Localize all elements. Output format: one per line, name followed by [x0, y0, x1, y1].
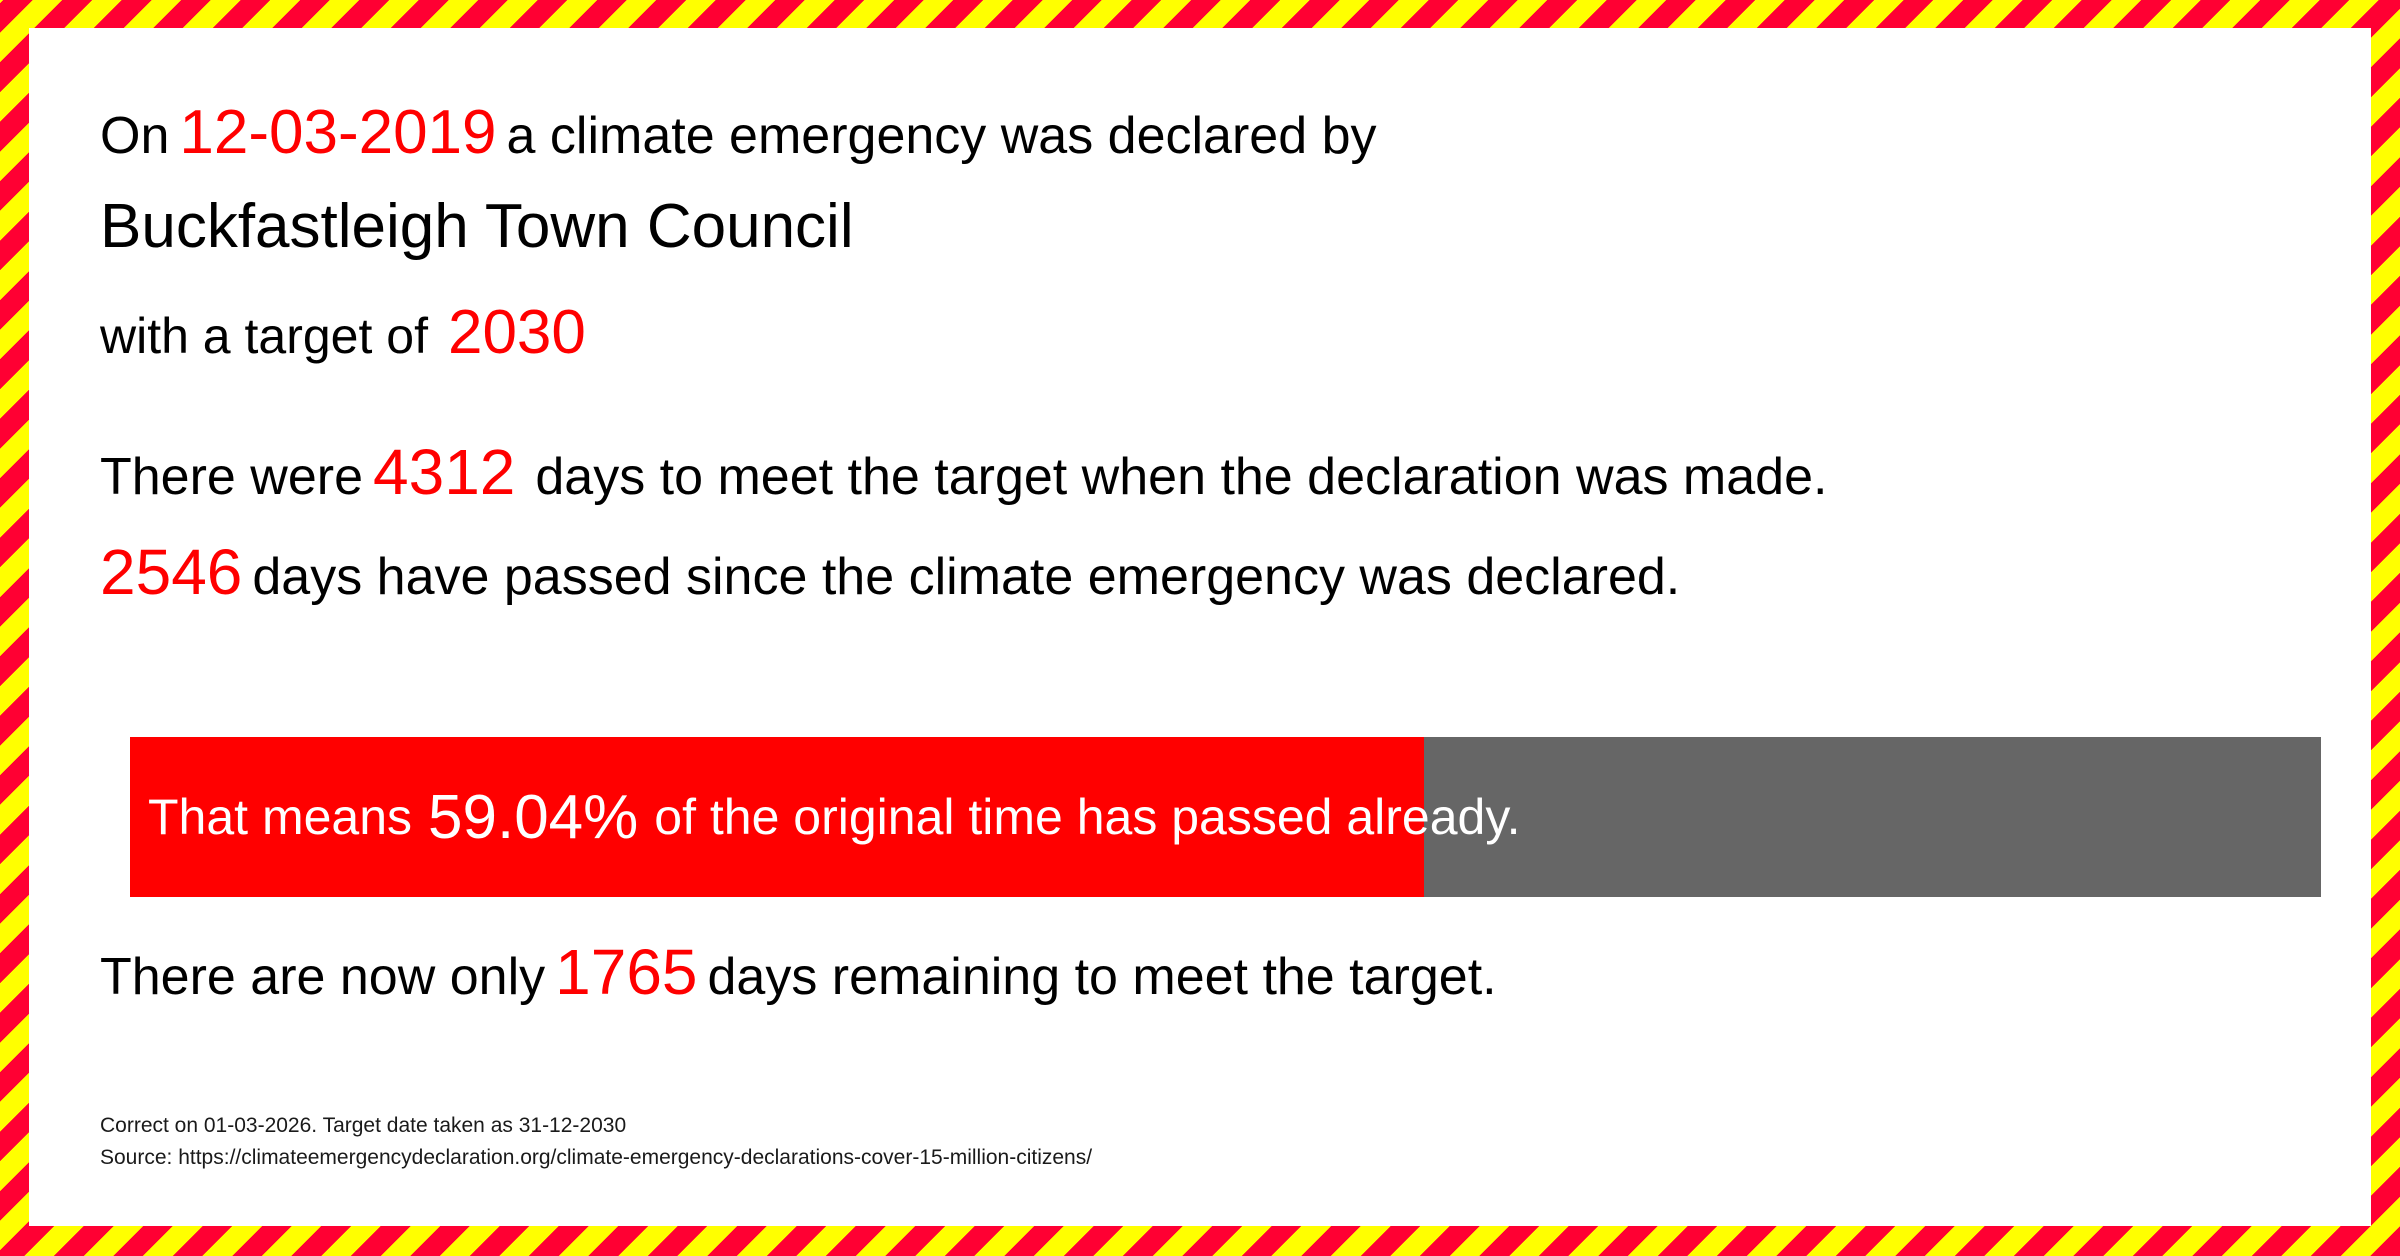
remaining-days-value: 1765 — [555, 936, 697, 1008]
footnote-correct-on: Correct on 01-03-2026. Target date taken… — [100, 1114, 626, 1138]
days-passed-value: 2546 — [100, 536, 242, 608]
hazard-stripe-frame: On12-03-2019a climate emergency was decl… — [0, 0, 2400, 1256]
council-name: Buckfastleigh Town Council — [100, 196, 854, 258]
footnote-source: Source: https://climateemergencydeclarat… — [100, 1146, 1092, 1170]
progress-prefix: That means — [148, 788, 412, 846]
original-days-line: There were4312days to meet the target wh… — [100, 440, 1827, 504]
original-prefix: There were — [100, 448, 363, 506]
declaration-line: On12-03-2019a climate emergency was decl… — [100, 102, 1377, 164]
progress-suffix: of the original time has passed already. — [654, 788, 1520, 846]
declaration-middle: a climate emergency was declared by — [507, 107, 1377, 165]
remaining-prefix: There are now only — [100, 948, 545, 1006]
remaining-suffix: days remaining to meet the target. — [708, 948, 1497, 1006]
progress-bar-label: That means59.04%of the original time has… — [148, 737, 1521, 897]
original-suffix: days to meet the target when the declara… — [535, 448, 1827, 506]
progress-percent: 59.04% — [422, 782, 644, 853]
card-content: On12-03-2019a climate emergency was decl… — [100, 66, 2321, 1186]
time-elapsed-progress-bar: That means59.04%of the original time has… — [130, 737, 2321, 897]
days-passed-line: 2546days have passed since the climate e… — [100, 540, 1680, 604]
target-year: 2030 — [448, 298, 586, 367]
declaration-date: 12-03-2019 — [179, 98, 496, 167]
days-passed-suffix: days have passed since the climate emerg… — [252, 548, 1680, 606]
declaration-prefix: On — [100, 107, 169, 165]
info-card: On12-03-2019a climate emergency was decl… — [29, 28, 2371, 1226]
target-prefix: with a target of — [100, 308, 428, 364]
days-remaining-line: There are now only1765days remaining to … — [100, 940, 1497, 1004]
target-line: with a target of2030 — [100, 302, 586, 364]
original-days-value: 4312 — [373, 436, 515, 508]
